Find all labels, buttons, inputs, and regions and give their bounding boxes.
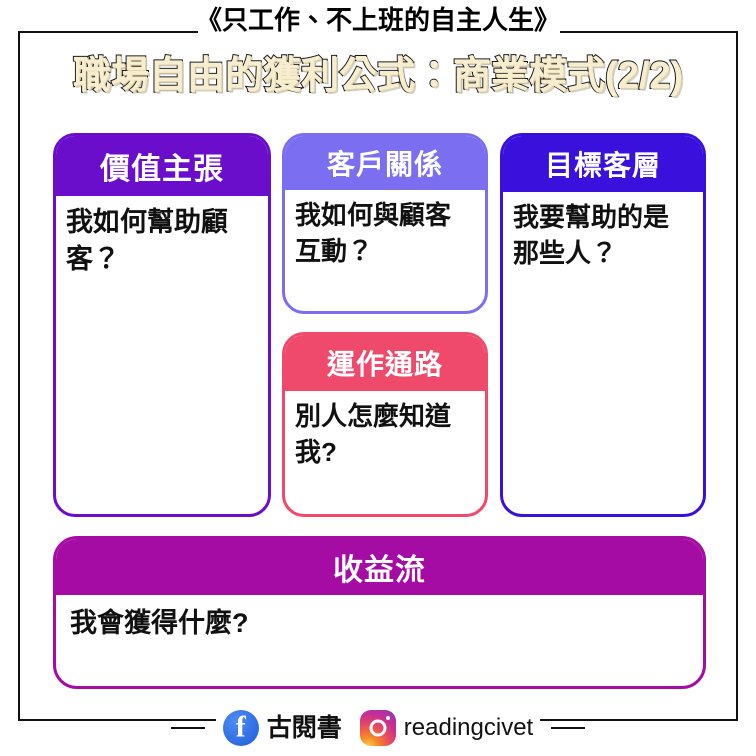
footer-rule-right bbox=[551, 727, 585, 729]
card-target-customers: 目標客層 我要幫助的是那些人？ bbox=[500, 133, 706, 517]
card-customer-relationships-header: 客戶關係 bbox=[285, 136, 485, 190]
card-target-customers-header: 目標客層 bbox=[503, 136, 703, 192]
card-revenue-streams: 收益流 我會獲得什麼? bbox=[53, 536, 706, 689]
page-title: 職場自由的獲利公式：商業模式(2/2) bbox=[0, 57, 756, 97]
frame-border-left bbox=[18, 31, 20, 721]
social-instagram[interactable]: readingcivet bbox=[360, 710, 533, 746]
infographic-canvas: 《只工作、不上班的自主人生》 職場自由的獲利公式：商業模式(2/2) 價值主張 … bbox=[0, 0, 756, 756]
instagram-lens-ring bbox=[369, 720, 386, 737]
card-revenue-streams-header: 收益流 bbox=[56, 539, 703, 595]
card-revenue-streams-body: 我會獲得什麼? bbox=[56, 595, 703, 642]
instagram-icon[interactable] bbox=[360, 710, 396, 746]
footer-rule-left bbox=[171, 727, 205, 729]
card-channels: 運作通路 別人怎麼知道我? bbox=[282, 332, 488, 517]
facebook-icon[interactable] bbox=[223, 710, 259, 746]
card-customer-relationships: 客戶關係 我如何與顧客互動？ bbox=[282, 133, 488, 314]
facebook-handle-label: 古閱書 bbox=[267, 716, 342, 741]
instagram-flash-dot bbox=[386, 716, 390, 720]
card-value-proposition: 價值主張 我如何幫助顧客？ bbox=[53, 133, 271, 517]
card-channels-header: 運作通路 bbox=[285, 335, 485, 391]
frame-border-right bbox=[736, 31, 738, 721]
card-value-proposition-header: 價值主張 bbox=[56, 136, 268, 196]
card-channels-body: 別人怎麼知道我? bbox=[285, 391, 485, 471]
social-facebook[interactable]: 古閱書 bbox=[223, 710, 342, 746]
book-title: 《只工作、不上班的自主人生》 bbox=[0, 7, 756, 33]
card-value-proposition-body: 我如何幫助顧客？ bbox=[56, 196, 268, 279]
card-customer-relationships-body: 我如何與顧客互動？ bbox=[285, 190, 485, 270]
instagram-handle-label: readingcivet bbox=[404, 716, 533, 740]
footer: 古閱書 readingcivet bbox=[0, 700, 756, 756]
card-target-customers-body: 我要幫助的是那些人？ bbox=[503, 192, 703, 272]
